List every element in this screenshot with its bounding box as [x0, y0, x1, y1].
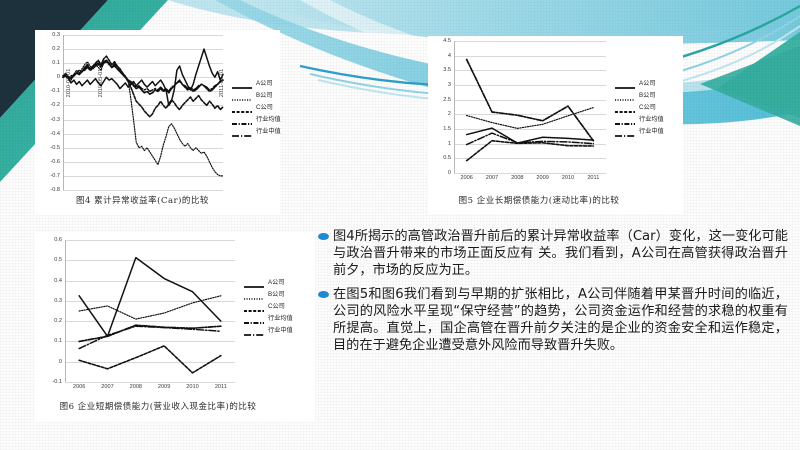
gridline — [63, 190, 223, 191]
legend-swatch-icon — [243, 290, 265, 298]
legend-label: 行业均值 — [639, 114, 664, 123]
y-axis-tick-label: 2.5 — [443, 97, 454, 103]
y-axis-tick-label: 0.3 — [52, 32, 63, 38]
legend-entry-2: B公司 — [243, 289, 293, 298]
body-text-block: 图4所揭示的高管政治晋升前后的累计异常收益率（Car）变化，这一变化可能与政治晋… — [318, 228, 788, 360]
series-layer — [63, 35, 223, 190]
legend-swatch-icon — [243, 326, 265, 334]
legend-label: 行业均值 — [256, 114, 281, 123]
x-axis-tick-label: 2009 — [536, 173, 548, 181]
bullet-text: 在图5和图6我们看到与早期的扩张相比，A公司伴随着甲某晋升时间的临近，公司的风险… — [333, 286, 788, 355]
legend-entry-1: A公司 — [231, 78, 281, 87]
legend-swatch-icon — [614, 127, 636, 135]
y-axis-tick-label: -0.6 — [50, 159, 63, 165]
series-line-行业均值 — [467, 59, 594, 140]
gridline — [65, 382, 235, 383]
legend-entry-3: C公司 — [231, 102, 281, 111]
bullet-dot-icon — [318, 291, 329, 298]
figure-6-caption: 图6 企业短期偿债能力(营业收入现金比率)的比较 — [33, 400, 283, 412]
legend-entry-2: B公司 — [231, 90, 281, 99]
bullet-item: 图4所揭示的高管政治晋升前后的累计异常收益率（Car）变化，这一变化可能与政治晋… — [318, 228, 788, 280]
figure-4-legend: A公司B公司C公司行业均值行业中值 — [231, 78, 281, 138]
figure-5-plot-area: 4.543.532.521.510.5020062007200820092010… — [454, 41, 606, 173]
legend-label: 行业中值 — [268, 325, 293, 334]
legend-entry-3: C公司 — [243, 301, 293, 310]
y-axis-tick-label: 0.5 — [443, 155, 454, 161]
y-axis-tick-label: -0.1 — [50, 88, 63, 94]
figure-5-legend: A公司B公司C公司行业均值行业中值 — [614, 78, 664, 138]
legend-entry-2: B公司 — [614, 90, 664, 99]
legend-label: A公司 — [268, 277, 285, 286]
legend-entry-3: C公司 — [614, 102, 664, 111]
legend-label: 行业中值 — [639, 126, 664, 135]
legend-entry-5: 行业中值 — [614, 126, 664, 135]
bullet-text: 图4所揭示的高管政治晋升前后的累计异常收益率（Car）变化，这一变化可能与政治晋… — [333, 228, 788, 280]
gridline — [454, 173, 606, 174]
legend-label: B公司 — [256, 90, 273, 99]
legend-swatch-icon — [231, 127, 253, 135]
legend-swatch-icon — [243, 278, 265, 286]
figure-6-panel: 0.60.50.40.30.20.10-0.120062007200820092… — [35, 232, 315, 422]
legend-swatch-icon — [614, 79, 636, 87]
bullet-dot-icon — [318, 233, 329, 240]
legend-entry-4: 行业均值 — [614, 114, 664, 123]
y-axis-tick-label: 0.2 — [54, 318, 65, 324]
y-axis-tick-label: -0.5 — [50, 145, 63, 151]
slide-canvas: 0.30.20.10-0.1-0.2-0.3-0.4-0.5-0.6-0.7-0… — [0, 0, 800, 450]
x-axis-tick-label: 2011 — [215, 382, 227, 390]
x-axis-tick-label: 2010 — [186, 382, 198, 390]
y-axis-tick-label: 3.5 — [443, 67, 454, 73]
y-axis-tick-label: 0.1 — [52, 60, 63, 66]
x-axis-tick-label: 2007 — [101, 382, 113, 390]
y-axis-tick-label: -0.8 — [50, 187, 63, 193]
legend-entry-5: 行业中值 — [243, 325, 293, 334]
y-axis-tick-label: 0.4 — [54, 278, 65, 284]
figure-6-legend: A公司B公司C公司行业均值行业中值 — [243, 277, 293, 337]
y-axis-tick-label: 0.1 — [54, 338, 65, 344]
legend-entry-1: A公司 — [614, 78, 664, 87]
y-axis-tick-label: -0.4 — [50, 131, 63, 137]
legend-swatch-icon — [231, 79, 253, 87]
legend-entry-5: 行业中值 — [231, 126, 281, 135]
legend-label: B公司 — [639, 90, 656, 99]
figure-5-caption: 图5 企业长期偿债能力(速动比率)的比较 — [424, 194, 654, 206]
legend-swatch-icon — [231, 103, 253, 111]
x-axis-tick-label: 2006 — [73, 382, 85, 390]
legend-label: C公司 — [268, 301, 285, 310]
y-axis-tick-label: 4.5 — [443, 38, 454, 44]
series-line-A公司 — [79, 258, 221, 337]
x-axis-tick-label: 2007 — [486, 173, 498, 181]
figure-4-plot-area: 0.30.20.10-0.1-0.2-0.3-0.4-0.5-0.6-0.7-0… — [63, 35, 223, 190]
series-layer — [454, 41, 606, 173]
figure-5-panel: 4.543.532.521.510.5020062007200820092010… — [428, 36, 683, 214]
x-axis-tick-label: 2011 — [587, 173, 599, 181]
x-axis-tick-label: 2008 — [130, 382, 142, 390]
legend-label: C公司 — [639, 102, 656, 111]
legend-entry-4: 行业均值 — [231, 114, 281, 123]
x-axis-tick-label: 2009 — [158, 382, 170, 390]
series-line-C公司 — [79, 346, 221, 373]
y-axis-tick-label: -0.2 — [50, 102, 63, 108]
y-axis-tick-label: 0.5 — [54, 257, 65, 263]
legend-label: C公司 — [256, 102, 273, 111]
figure-4-panel: 0.30.20.10-0.1-0.2-0.3-0.4-0.5-0.6-0.7-0… — [35, 30, 280, 215]
series-layer — [65, 240, 235, 382]
legend-label: A公司 — [256, 78, 273, 87]
legend-label: A公司 — [639, 78, 656, 87]
x-axis-tick-label: 2008 — [511, 173, 523, 181]
figure-6-plot-area: 0.60.50.40.30.20.10-0.120062007200820092… — [65, 240, 235, 382]
legend-label: 行业中值 — [256, 126, 281, 135]
legend-swatch-icon — [243, 314, 265, 322]
legend-entry-4: 行业均值 — [243, 313, 293, 322]
legend-label: 行业均值 — [268, 313, 293, 322]
legend-entry-1: A公司 — [243, 277, 293, 286]
x-axis-tick-label: 2006 — [460, 173, 472, 181]
legend-swatch-icon — [614, 91, 636, 99]
y-axis-tick-label: -0.1 — [52, 379, 65, 385]
legend-swatch-icon — [243, 302, 265, 310]
legend-label: B公司 — [268, 289, 285, 298]
legend-swatch-icon — [231, 91, 253, 99]
y-axis-tick-label: 1.5 — [443, 126, 454, 132]
y-axis-tick-label: 0.3 — [54, 298, 65, 304]
y-axis-tick-label: 0.6 — [54, 237, 65, 243]
y-axis-tick-label: -0.7 — [50, 173, 63, 179]
figure-4-caption: 图4 累计异常收益率(Car)的比较 — [35, 194, 250, 206]
y-axis-tick-label: -0.3 — [50, 117, 63, 123]
legend-swatch-icon — [614, 115, 636, 123]
bullet-item: 在图5和图6我们看到与早期的扩张相比，A公司伴随着甲某晋升时间的临近，公司的风险… — [318, 286, 788, 355]
series-line-C公司 — [467, 141, 594, 161]
y-axis-tick-label: 0.2 — [52, 46, 63, 52]
x-axis-tick-label: 2010 — [562, 173, 574, 181]
legend-swatch-icon — [231, 115, 253, 123]
series-line-B公司 — [63, 60, 223, 176]
legend-swatch-icon — [614, 103, 636, 111]
